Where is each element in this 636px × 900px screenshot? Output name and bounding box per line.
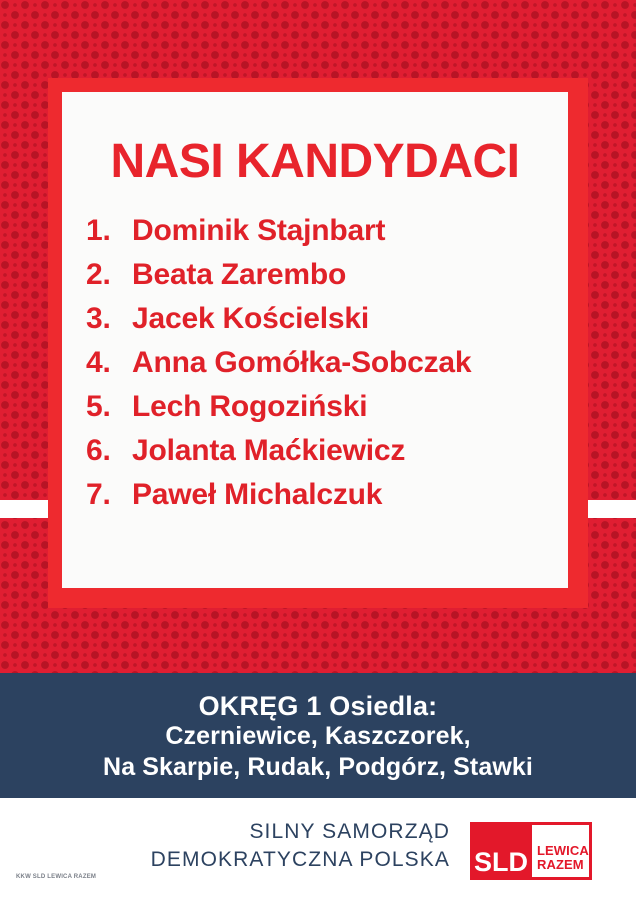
district-title: OKRĘG 1 Osiedla: <box>0 673 636 721</box>
candidate-number: 6. <box>86 434 132 468</box>
candidates-card: NASI KANDYDACI 1. Dominik Stajnbart 2. B… <box>62 92 568 588</box>
district-band: OKRĘG 1 Osiedla: Czerniewice, Kaszczorek… <box>0 673 636 798</box>
sld-lewica-razem-logo: SLD LEWICA RAZEM <box>470 822 592 880</box>
candidate-name: Lech Rogoziński <box>132 390 556 424</box>
logo-razem-text: RAZEM <box>537 858 589 872</box>
page-title: NASI KANDYDACI <box>62 134 568 189</box>
list-item: 1. Dominik Stajnbart <box>86 214 556 258</box>
candidate-number: 1. <box>86 214 132 248</box>
candidate-number: 2. <box>86 258 132 292</box>
logo-lewica-text: LEWICA <box>537 844 589 858</box>
candidate-name: Anna Gomółka-Sobczak <box>132 346 556 380</box>
candidate-number: 5. <box>86 390 132 424</box>
list-item: 3. Jacek Kościelski <box>86 302 556 346</box>
candidate-list: 1. Dominik Stajnbart 2. Beata Zarembo 3.… <box>86 214 556 522</box>
committee-fineprint: KKW SLD LEWICA RAZEM <box>16 874 96 880</box>
candidate-name: Beata Zarembo <box>132 258 556 292</box>
candidate-number: 3. <box>86 302 132 336</box>
footer: SILNY SAMORZĄD DEMOKRATYCZNA POLSKA KKW … <box>0 798 636 900</box>
list-item: 4. Anna Gomółka-Sobczak <box>86 346 556 390</box>
logo-sld-block: SLD <box>470 822 532 880</box>
list-item: 5. Lech Rogoziński <box>86 390 556 434</box>
candidate-name: Jolanta Maćkiewicz <box>132 434 556 468</box>
candidate-number: 7. <box>86 478 132 512</box>
slogan: SILNY SAMORZĄD DEMOKRATYCZNA POLSKA <box>120 818 450 874</box>
candidate-name: Paweł Michalczuk <box>132 478 556 512</box>
candidate-name: Dominik Stajnbart <box>132 214 556 248</box>
right-edge-notch <box>584 500 636 518</box>
district-neighborhoods-line-2: Na Skarpie, Rudak, Podgórz, Stawki <box>0 752 636 783</box>
list-item: 2. Beata Zarembo <box>86 258 556 302</box>
candidate-name: Jacek Kościelski <box>132 302 556 336</box>
list-item: 7. Paweł Michalczuk <box>86 478 556 522</box>
slogan-line-2: DEMOKRATYCZNA POLSKA <box>120 846 450 874</box>
candidate-number: 4. <box>86 346 132 380</box>
district-neighborhoods-line-1: Czerniewice, Kaszczorek, <box>0 721 636 752</box>
campaign-poster: NASI KANDYDACI 1. Dominik Stajnbart 2. B… <box>0 0 636 900</box>
logo-sld-text: SLD <box>474 849 528 876</box>
list-item: 6. Jolanta Maćkiewicz <box>86 434 556 478</box>
logo-lewica-razem-block: LEWICA RAZEM <box>532 825 589 877</box>
left-edge-notch <box>0 500 52 518</box>
slogan-line-1: SILNY SAMORZĄD <box>120 818 450 846</box>
